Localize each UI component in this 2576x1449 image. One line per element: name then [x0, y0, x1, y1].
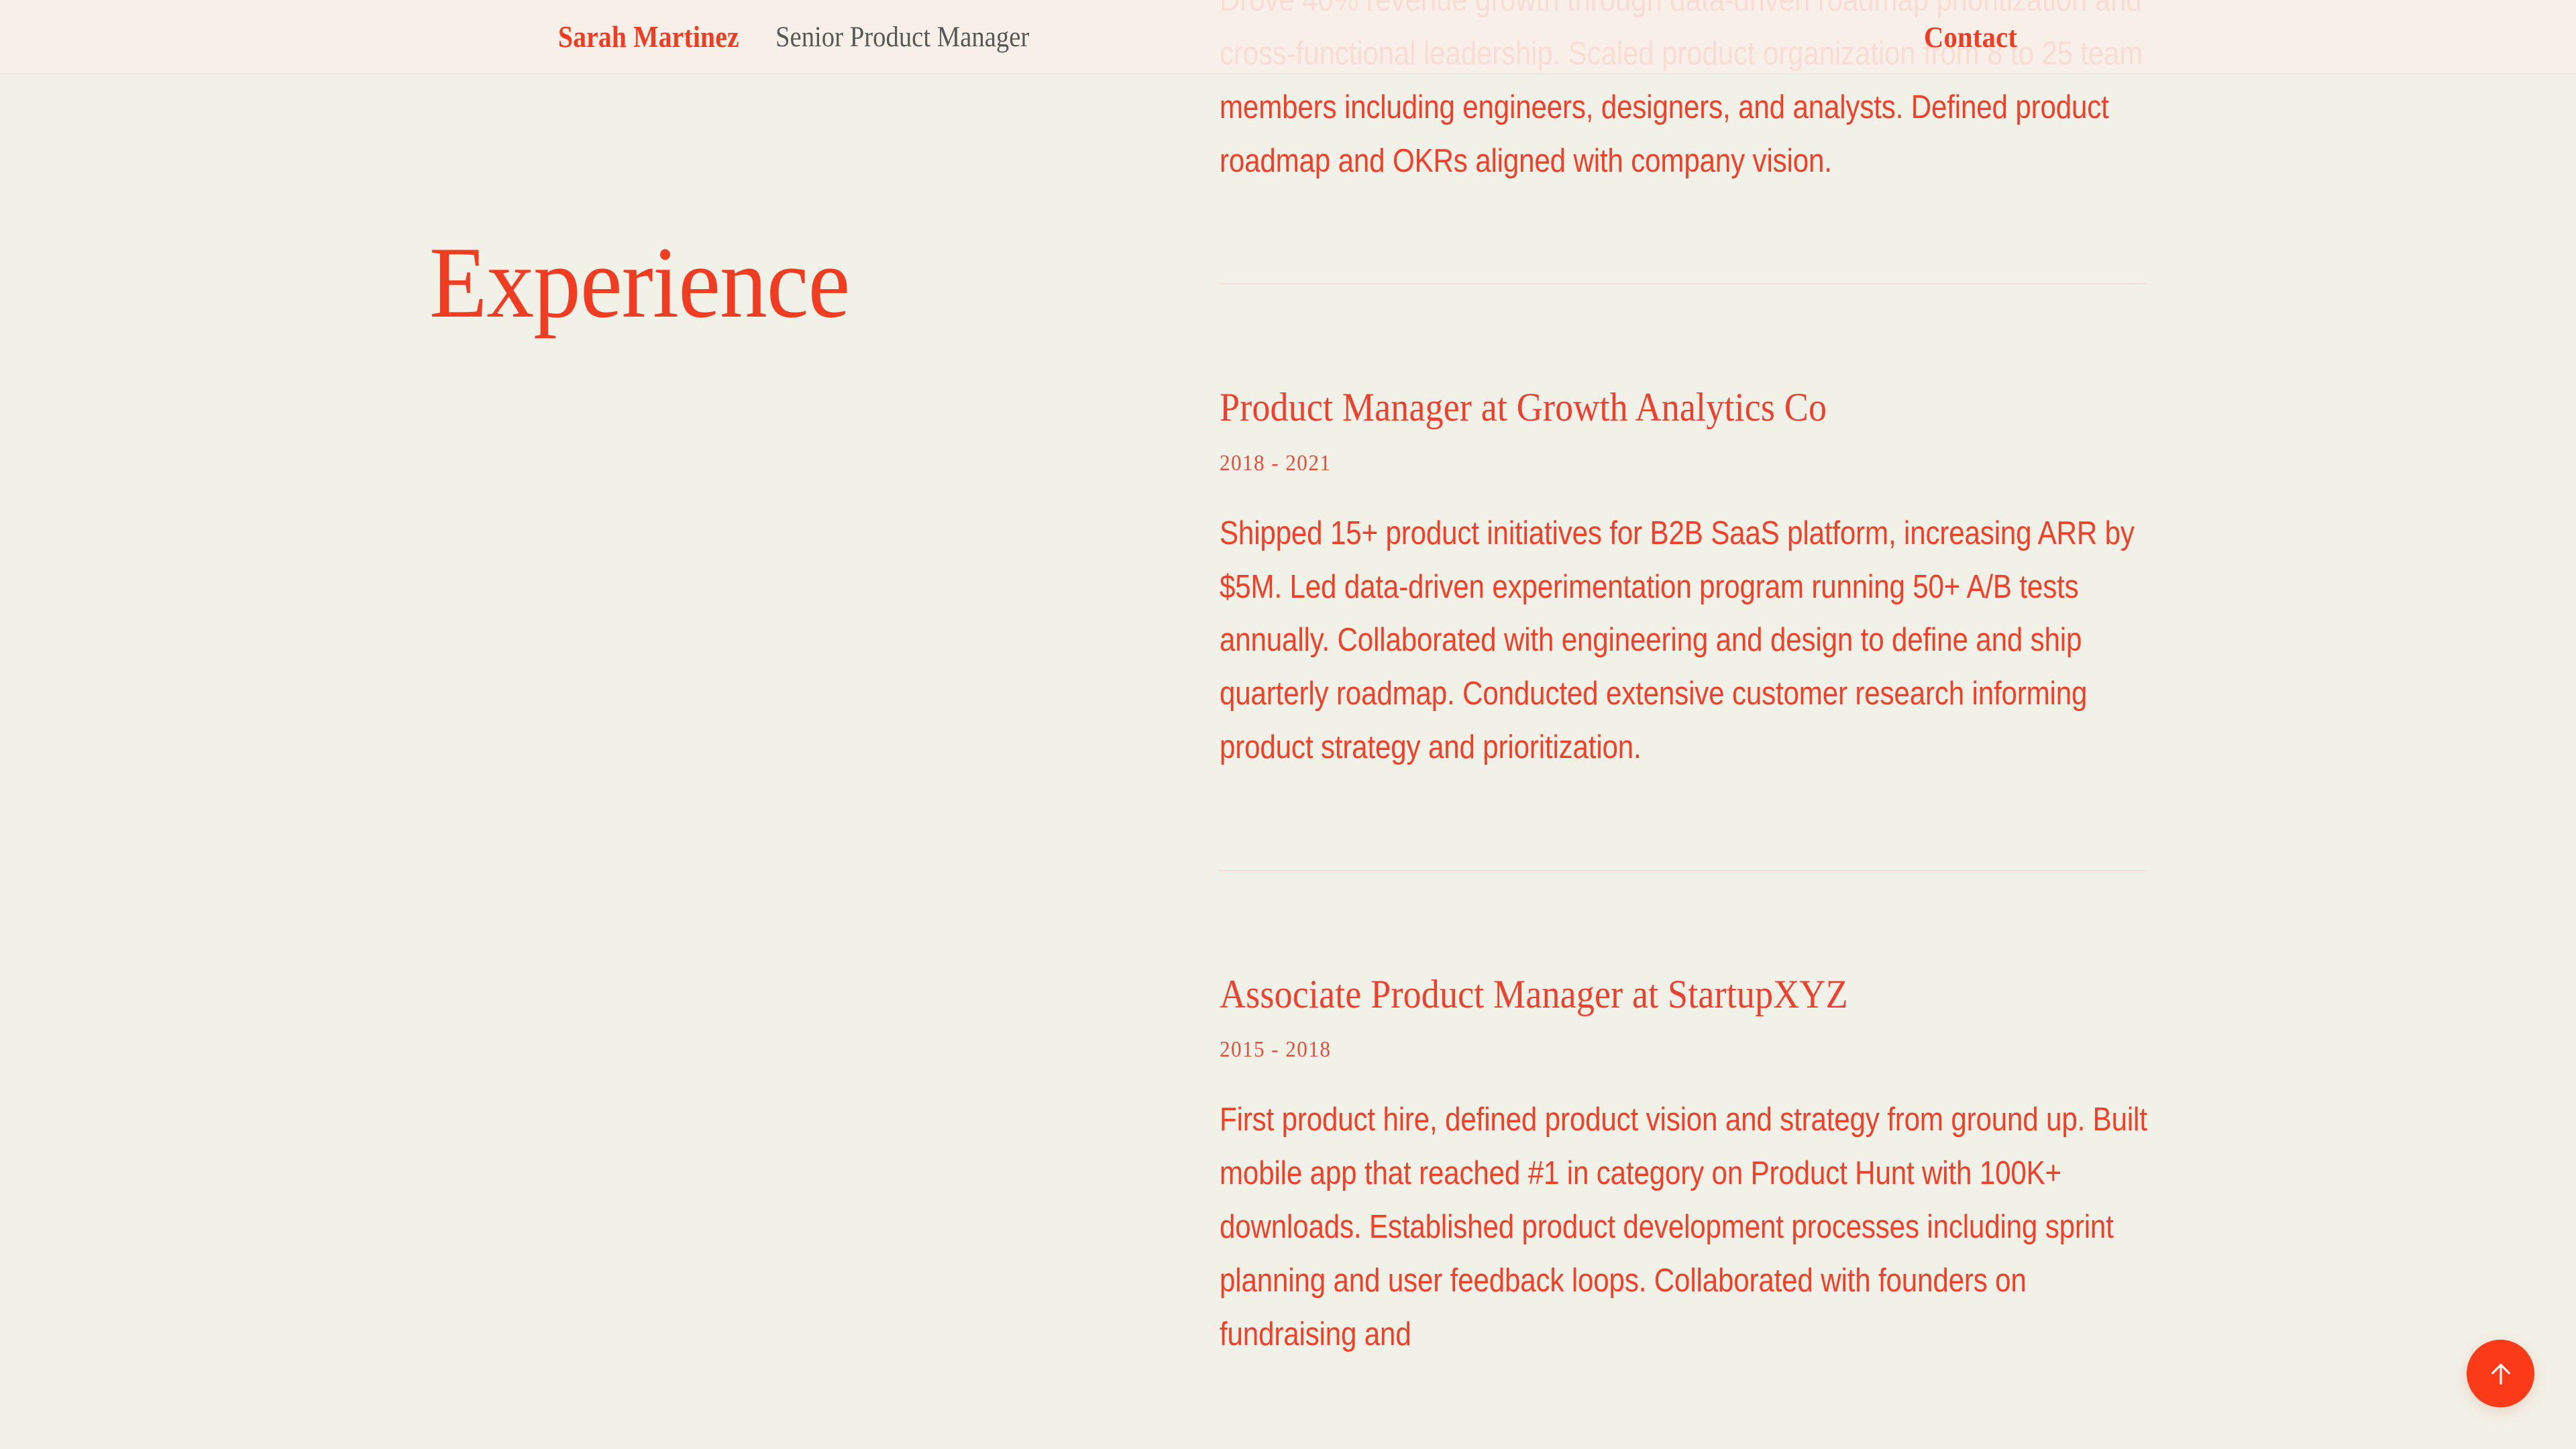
site-header: Sarah Martinez Senior Product Manager Co… — [0, 0, 2576, 74]
experience-item[interactable]: Product Manager at Growth Analytics Co 2… — [1220, 385, 2152, 774]
nav-link-contact[interactable]: Contact — [1924, 0, 2017, 74]
experience-dates: 2015 - 2018 — [1220, 1038, 2078, 1061]
page-root: Experience Director of Product at TechCo… — [0, 0, 2576, 1449]
page-title: Experience — [429, 231, 849, 333]
scroll-to-top-button[interactable] — [2467, 1340, 2534, 1407]
brand[interactable]: Sarah Martinez Senior Product Manager — [558, 0, 1058, 74]
spacer — [1220, 188, 2152, 283]
experience-title: Associate Product Manager at StartupXYZ — [1220, 972, 2059, 1017]
spacer — [1220, 475, 2152, 507]
experience-title: Product Manager at Growth Analytics Co — [1220, 385, 2059, 430]
spacer — [1220, 775, 2152, 870]
arrow-up-icon — [2485, 1358, 2516, 1389]
experience-description: Shipped 15+ product initiatives for B2B … — [1220, 507, 2149, 775]
spacer — [1220, 1017, 2152, 1038]
spacer — [1220, 1061, 2152, 1093]
left-column: Experience — [0, 0, 1214, 1449]
brand-name[interactable]: Sarah Martinez — [558, 22, 739, 52]
brand-tagline: Senior Product Manager — [775, 23, 1029, 52]
spacer — [1220, 431, 2152, 452]
right-column: Director of Product at TechCorp Inc 2021… — [1214, 0, 2576, 1449]
experience-list: Director of Product at TechCorp Inc 2021… — [1220, 0, 2152, 1361]
experience-dates: 2018 - 2021 — [1220, 452, 2078, 475]
spacer — [1220, 871, 2152, 972]
spacer — [1220, 284, 2152, 385]
experience-item[interactable]: Associate Product Manager at StartupXYZ … — [1220, 972, 2152, 1361]
experience-description: First product hire, defined product visi… — [1220, 1093, 2149, 1361]
